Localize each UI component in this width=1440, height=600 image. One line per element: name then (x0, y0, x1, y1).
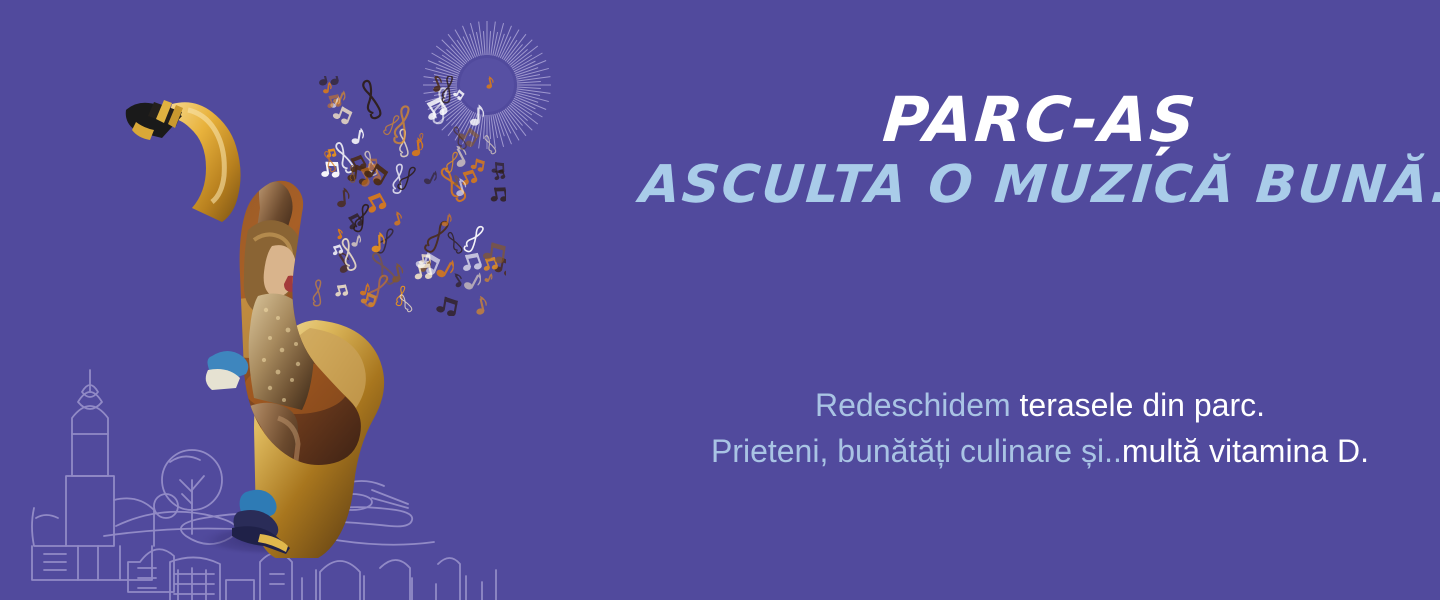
headline-secondary: ASCULTA O MUZICĂ BUNĂ... (638, 158, 1440, 212)
headline-primary: PARC-AȘ (637, 88, 1440, 152)
body-line-1: Redeschidem terasele din parc. (640, 382, 1440, 428)
body-line-2: Prieteni, bunătăți culinare și..multă vi… (640, 428, 1440, 474)
headline-group: PARC-AȘ ASCULTA O MUZICĂ BUNĂ... (640, 88, 1440, 213)
body-line-1-emphasis: terasele din parc. (1020, 387, 1265, 423)
text-panel: PARC-AȘ ASCULTA O MUZICĂ BUNĂ... Redesch… (640, 0, 1440, 600)
body-copy-group: Redeschidem terasele din parc. Prieteni,… (640, 382, 1440, 475)
body-line-2-emphasis: multă vitamina D. (1122, 433, 1369, 469)
woman-with-saxophone (120, 88, 430, 558)
artwork-panel (0, 0, 640, 600)
body-line-1-highlight: Redeschidem (815, 387, 1020, 423)
promo-banner: PARC-AȘ ASCULTA O MUZICĂ BUNĂ... Redesch… (0, 0, 1440, 600)
body-line-2-highlight: Prieteni, bunătăți culinare și.. (711, 433, 1122, 469)
